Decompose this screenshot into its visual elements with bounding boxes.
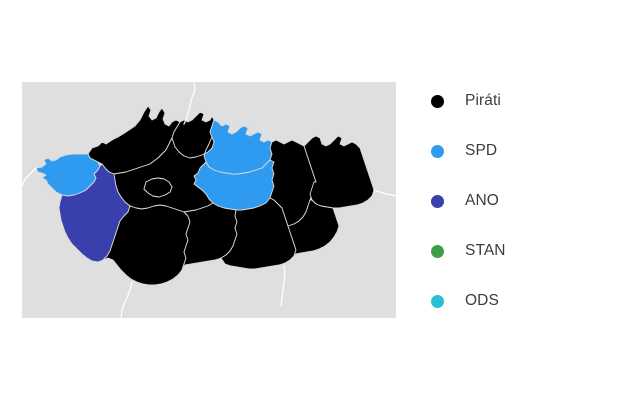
legend-dot-icon	[431, 195, 444, 208]
choropleth-map-panel	[22, 82, 396, 318]
legend-dot-icon	[431, 245, 444, 258]
legend-dot-icon	[431, 145, 444, 158]
legend-label-ano: ANO	[465, 192, 499, 210]
legend-item-pirati[interactable]: Piráti	[424, 87, 501, 115]
legend-item-spd[interactable]: SPD	[424, 137, 497, 165]
legend-item-ano[interactable]: ANO	[424, 187, 499, 215]
czech-regions-map	[22, 82, 396, 318]
legend-dot-icon	[431, 95, 444, 108]
legend-label-pirati: Piráti	[465, 92, 501, 110]
legend-label-stan: STAN	[465, 242, 506, 260]
legend-label-ods: ODS	[465, 292, 499, 310]
legend-dot-icon	[431, 295, 444, 308]
legend-label-spd: SPD	[465, 142, 497, 160]
map-legend: Piráti SPD ANO STAN ODS	[424, 82, 624, 322]
legend-item-ods[interactable]: ODS	[424, 287, 499, 315]
figure-canvas: Piráti SPD ANO STAN ODS	[0, 0, 641, 407]
legend-item-stan[interactable]: STAN	[424, 237, 506, 265]
